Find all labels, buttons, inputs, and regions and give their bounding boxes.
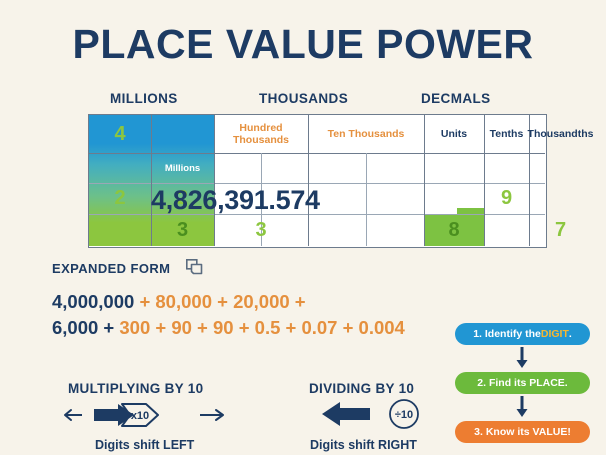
down-arrow-icon-1: [515, 347, 529, 374]
place-value-table: Hundred Thousands Ten Thousands Units Te…: [88, 114, 547, 248]
step-pill-1[interactable]: 1. Identify the DIGIT.: [455, 323, 590, 345]
multiply-badge-label: x10: [131, 410, 149, 422]
step-2-label: 2. Find its PLACE.: [477, 377, 567, 389]
expanded-form-line-1-orange: + 80,000 + 20,000 +: [139, 291, 305, 312]
expanded-form-line-1: 4,000,000 + 80,000 + 20,000 +: [52, 291, 306, 313]
step-1-prefix: 1. Identify the: [473, 328, 541, 340]
divide-caption: Digits shift RIGHT: [310, 438, 417, 452]
multiply-caption: Digits shift LEFT: [95, 438, 194, 452]
group-header-millions: MILLIONS: [110, 91, 178, 106]
multiply-title: MULTIPLYING BY 10: [68, 381, 203, 396]
column-header-tenths: Tenths: [484, 115, 529, 153]
column-header-hundred-thousands: Hundred Thousands: [214, 115, 308, 153]
digit-units-8: 8: [424, 214, 484, 246]
column-header-units: Units: [424, 115, 484, 153]
step-3-label: 3. Know its VALUE!: [474, 426, 571, 438]
column-header-ten-thousands: Ten Thousands: [308, 115, 424, 153]
group-header-thousands: THOUSANDS: [259, 91, 348, 106]
divide-badge-label: ÷10: [395, 409, 413, 421]
digit-tenths-9: 9: [484, 183, 529, 214]
step-1-suffix: .: [569, 328, 572, 340]
expanded-form-line-2: 6,000 + 300 + 90 + 90 + 0.5 + 0.07 + 0.0…: [52, 317, 405, 339]
expanded-form-title: EXPANDED FORM: [52, 261, 170, 276]
column-header-thousandths: Thousandths: [529, 115, 592, 153]
digit-row4-col2-3: 3: [151, 214, 214, 246]
step-pill-2[interactable]: 2. Find its PLACE.: [455, 372, 590, 394]
digit-millions-4: 4: [89, 115, 151, 153]
expanded-form-line-2-orange: 300 + 90 + 90 + 0.5 + 0.07 + 0.004: [119, 317, 404, 338]
divide-arrow-graphic: ÷10: [318, 396, 438, 437]
expanded-form-line-1-navy: 4,000,000: [52, 291, 134, 312]
multiply-arrow-graphic: x10: [60, 398, 230, 437]
down-arrow-icon-2: [515, 396, 529, 423]
grid-vline-e: [366, 153, 367, 246]
divide-title: DIVIDING BY 10: [309, 381, 414, 396]
digit-hundred-thousands-3: 3: [214, 214, 308, 246]
step-1-highlight: DIGIT: [541, 328, 569, 340]
group-header-decmals: DECMALS: [421, 91, 491, 106]
millions-label: Millions: [151, 153, 214, 183]
digit-thousandths-7: 7: [529, 214, 592, 246]
digit-row3-col1-2: 2: [89, 183, 151, 214]
step-pill-3[interactable]: 3. Know its VALUE!: [455, 421, 590, 443]
page-title: PLACE VALUE POWER: [0, 24, 606, 65]
copy-icon[interactable]: [186, 259, 204, 281]
expanded-form-line-2-navy: 6,000 +: [52, 317, 114, 338]
big-number: 4,826,391.574: [151, 185, 320, 216]
